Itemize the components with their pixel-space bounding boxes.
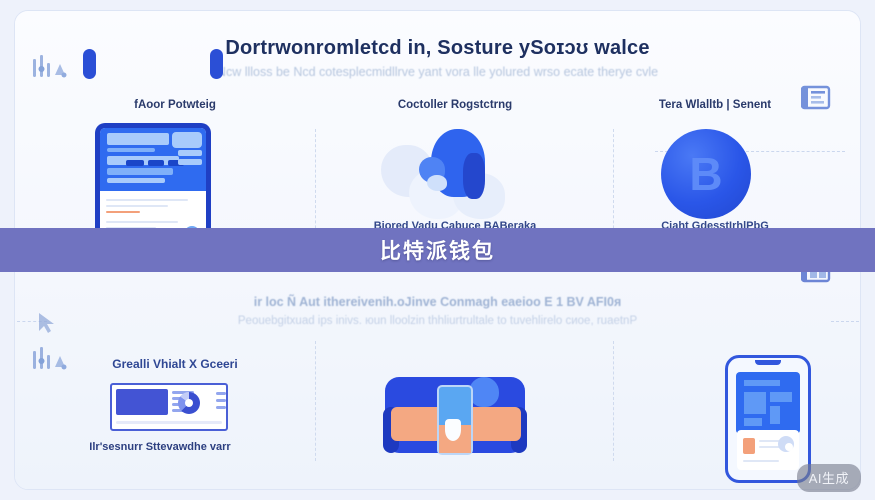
top-section-title: Dortrwonromletcd in, Sosture ySoɪɔʊ walc…	[15, 37, 860, 60]
wallet-title-banner: 比特派钱包	[0, 228, 875, 272]
chart-card-icon	[110, 383, 228, 431]
bottom-section-title: ir loc Ñ Aut ithereivenih.oJinve Conmagh…	[15, 295, 860, 309]
top-section-subtitle: Ncw llloss be Ncd cotesplecmidllrve yant…	[15, 65, 860, 79]
ai-generated-watermark: AI生成	[797, 464, 861, 492]
sliders-settings-icon	[31, 55, 69, 81]
people-phone-icon	[385, 363, 525, 463]
ai-watermark-label: AI生成	[809, 471, 849, 486]
tablet-side-button-left	[83, 49, 96, 79]
bottom-section-subtitle: Peouebgitxuad ips inivs. юun lloolzin th…	[15, 315, 860, 327]
browser-window-icon	[801, 85, 831, 111]
smartphone-qr-icon	[725, 355, 811, 483]
bitcoin-b-coin-icon: B	[661, 129, 751, 219]
column-divider-3	[315, 341, 316, 461]
bottom-column-heading-1: Grealli Vhialt X Gceeri	[55, 357, 295, 371]
dotted-rule-right	[831, 321, 859, 322]
infographic-canvas: Dortrwonromletcd in, Sosture ySoɪɔʊ walc…	[0, 0, 875, 500]
sliders-settings-icon-2	[31, 347, 69, 373]
banner-title-text: 比特派钱包	[380, 235, 495, 265]
pie-chart-icon	[178, 392, 200, 414]
top-column-heading-3: Tera Wlalltb | Senent	[595, 99, 835, 111]
cursor-arrow-icon	[33, 311, 67, 335]
column-divider-4	[613, 341, 614, 461]
top-column-heading-1: fAoor Potwteig	[55, 99, 295, 111]
top-column-heading-2: Coctoller Rogstctrng	[335, 99, 575, 111]
bottom-column-caption-1: Ilr'sesnurr Sttevawdhe varr	[40, 441, 280, 453]
tablet-side-button-right	[210, 49, 223, 79]
cloud-blob-icon	[375, 123, 525, 231]
